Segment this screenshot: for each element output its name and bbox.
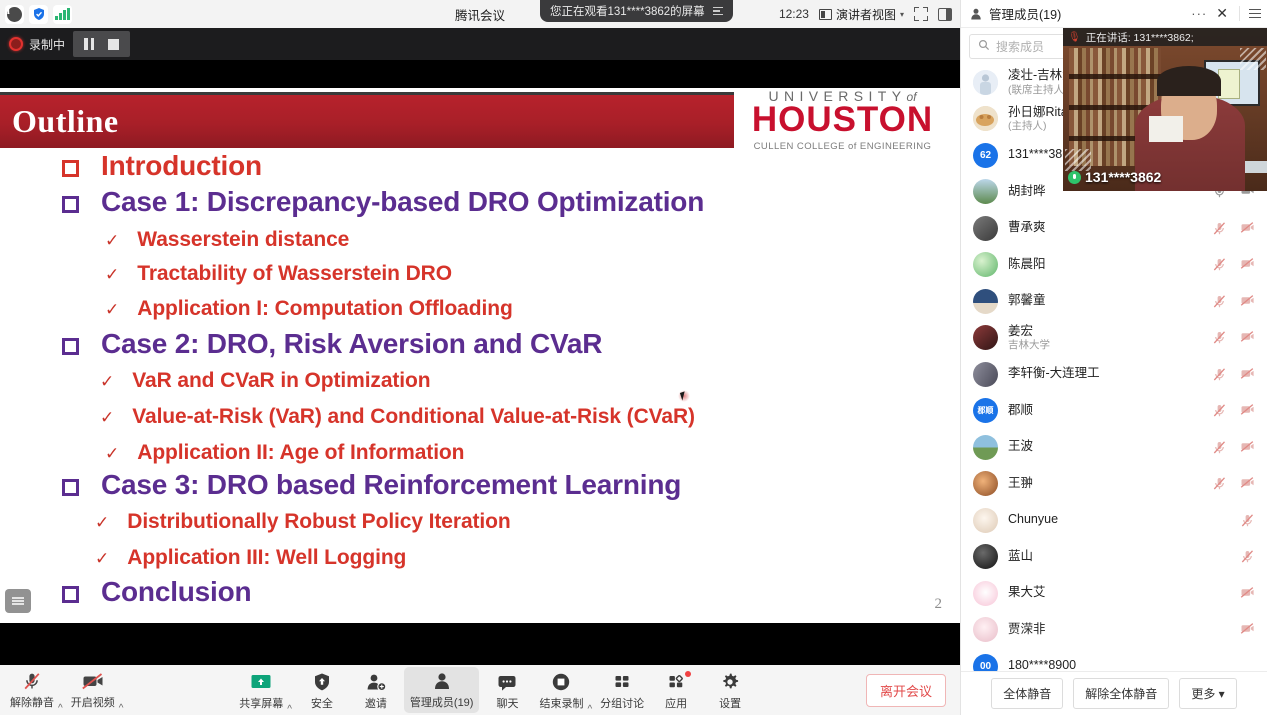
apps-grid-icon — [665, 671, 687, 693]
mic-options-chevron-icon[interactable]: ^ — [58, 703, 63, 714]
start-video-label: 开启视频 — [71, 694, 115, 710]
participant-status-icons — [1240, 622, 1255, 637]
mic-muted-icon[interactable] — [1240, 549, 1255, 564]
list-item[interactable]: 王波 — [961, 429, 1267, 466]
outline-item-l2: ✓ Application II: Age of Information — [0, 441, 960, 465]
more-label: 更多 — [1191, 687, 1215, 701]
mute-all-button[interactable]: 全体静音 — [991, 678, 1063, 709]
record-dot-icon — [9, 37, 23, 51]
members-icon — [969, 7, 983, 21]
outline-item-text: Application III: Well Logging — [127, 546, 406, 570]
speaking-banner-label: 正在讲话: 131****3862; — [1086, 30, 1194, 45]
breakout-rooms-label: 分组讨论 — [600, 695, 644, 711]
square-bullet-icon — [62, 160, 79, 177]
camera-off-icon — [81, 670, 105, 692]
participants-panel-footer: 全体静音 解除全体静音 更多 ▾ — [961, 671, 1267, 715]
participant-affiliation: 吉林大学 — [1008, 339, 1050, 352]
outline-item-text: Distributionally Robust Policy Iteration — [127, 510, 510, 534]
chat-button[interactable]: 聊天 — [481, 669, 533, 713]
participant-name: 郭馨童 — [1008, 293, 1046, 309]
camera-off-icon[interactable] — [1240, 403, 1255, 418]
speaking-mic-icon: 🎙 — [1068, 32, 1081, 43]
check-bullet-icon: ✓ — [105, 444, 119, 464]
share-screen-button[interactable]: 共享屏幕 — [235, 669, 287, 713]
speaker-video-frame — [1063, 28, 1267, 191]
square-bullet-icon — [62, 586, 79, 603]
list-item[interactable]: 王翀 — [961, 466, 1267, 503]
square-bullet-icon — [62, 479, 79, 496]
logo-houston-word: HOUSTON — [735, 102, 950, 138]
camera-off-icon[interactable] — [1240, 622, 1255, 637]
settings-label: 设置 — [719, 695, 741, 711]
outline-item-l1: Introduction — [0, 150, 960, 182]
breakout-rooms-button[interactable]: 分组讨论 — [596, 669, 648, 713]
check-bullet-icon: ✓ — [95, 513, 109, 533]
square-bullet-icon — [62, 338, 79, 355]
search-icon — [978, 39, 990, 54]
avatar — [973, 508, 998, 533]
participant-status-icons — [1240, 513, 1255, 528]
avatar — [973, 252, 998, 277]
mic-muted-icon — [22, 670, 42, 692]
fullscreen-icon[interactable] — [914, 7, 928, 21]
clock: 12:23 — [779, 7, 809, 21]
participant-name: 陈晨阳 — [1008, 257, 1046, 273]
chat-label: 聊天 — [496, 695, 518, 711]
university-logo: UNIVERSITYof HOUSTON CULLEN COLLEGE of E… — [735, 88, 950, 152]
settings-button[interactable]: 设置 — [704, 669, 756, 713]
start-video-button[interactable]: 开启视频 — [67, 668, 119, 712]
pause-recording-icon[interactable] — [84, 38, 94, 50]
camera-off-icon[interactable] — [1240, 257, 1255, 272]
slide-navigation-icon[interactable] — [5, 589, 31, 613]
participant-name: 蓝山 — [1008, 549, 1033, 565]
slide-outline-list: Introduction Case 1: Discrepancy-based D… — [0, 150, 960, 608]
mic-muted-icon[interactable] — [1212, 440, 1227, 455]
outline-item-l2: ✓ Application III: Well Logging — [0, 546, 960, 570]
outline-item-text: Case 3: DRO based Reinforcement Learning — [101, 469, 681, 501]
outline-item-l2: ✓ Tractability of Wasserstein DRO — [0, 262, 960, 286]
chevron-down-icon: ▾ — [900, 10, 904, 19]
participants-panel-header: 管理成员(19) ··· ✕ — [961, 0, 1267, 28]
presentation-slide: Outline UNIVERSITYof HOUSTON CULLEN COLL… — [0, 88, 960, 623]
search-placeholder: 搜索成员 — [996, 38, 1044, 55]
avatar — [973, 216, 998, 241]
recording-controls — [73, 31, 130, 57]
slide-title-banner: Outline — [0, 92, 734, 148]
participant-name: 孙日娜Rita — [1008, 105, 1068, 121]
toggle-side-panel-icon[interactable] — [938, 8, 952, 21]
participant-role: (主持人) — [1008, 120, 1068, 133]
active-speaker-thumbnail[interactable]: 🎙 正在讲话: 131****3862; 131****3862 — [1063, 28, 1267, 191]
avatar: 62 — [973, 143, 998, 168]
toolbar-center-group: 共享屏幕 ^ 安全 — [235, 667, 756, 713]
list-item[interactable]: 陈晨阳 — [961, 247, 1267, 284]
unmute-all-button[interactable]: 解除全体静音 — [1073, 678, 1169, 709]
camera-off-icon[interactable] — [1240, 367, 1255, 382]
outline-item-l1: Case 1: Discrepancy-based DRO Optimizati… — [0, 186, 960, 218]
list-item[interactable]: 蓝山 — [961, 539, 1267, 576]
outline-item-text: Application II: Age of Information — [137, 441, 464, 465]
stop-recording-icon[interactable] — [108, 39, 119, 50]
avatar — [973, 435, 998, 460]
close-icon[interactable]: ✕ — [1216, 5, 1228, 22]
avatar — [973, 581, 998, 606]
top-bar: i 腾讯会议 12:23 演讲者视图 ▾ — [0, 0, 960, 28]
mic-muted-icon[interactable] — [1212, 294, 1227, 309]
list-item[interactable]: 郡顺 郡顺 — [961, 393, 1267, 430]
participant-name: 郡顺 — [1008, 403, 1033, 419]
unmute-button[interactable]: 解除静音 — [6, 668, 58, 712]
share-options-chevron-icon[interactable]: ^ — [287, 704, 292, 715]
camera-off-icon[interactable] — [1240, 221, 1255, 236]
avatar — [973, 289, 998, 314]
square-bullet-icon — [62, 196, 79, 213]
participant-name: 果大艾 — [1008, 585, 1046, 601]
speaker-view-icon — [819, 9, 832, 20]
invite-label: 邀请 — [365, 695, 387, 711]
outline-item-text: Case 1: Discrepancy-based DRO Optimizati… — [101, 186, 704, 218]
participants-panel: 管理成员(19) ··· ✕ 搜索成员 — [960, 0, 1267, 715]
mic-muted-icon[interactable] — [1212, 403, 1227, 418]
check-bullet-icon: ✓ — [105, 300, 119, 320]
thumbnail-name-label: 131****3862 — [1085, 169, 1161, 185]
panel-menu-icon[interactable] — [1239, 6, 1261, 21]
participant-status-icons — [1212, 440, 1255, 455]
avatar-initials: 00 — [980, 661, 991, 671]
avatar — [973, 106, 998, 131]
outline-item-l1: Case 2: DRO, Risk Aversion and CVaR — [0, 328, 960, 360]
manage-members-button[interactable]: 管理成员(19) — [404, 667, 480, 713]
security-label: 安全 — [311, 695, 333, 711]
list-item[interactable]: Chunyue — [961, 502, 1267, 539]
apps-button[interactable]: 应用 — [650, 669, 702, 713]
record-options-chevron-icon[interactable]: ^ — [587, 704, 592, 715]
mic-muted-icon[interactable] — [1212, 330, 1227, 345]
meeting-toolbar: 解除静音 ^ 开启视频 ^ — [0, 665, 960, 715]
shared-screen-stage[interactable]: Outline UNIVERSITYof HOUSTON CULLEN COLL… — [0, 60, 960, 665]
participant-status-icons — [1212, 367, 1255, 382]
participant-name: 贾溁非 — [1008, 622, 1046, 638]
security-button[interactable]: 安全 — [296, 669, 348, 713]
outline-item-text: Introduction — [101, 150, 262, 182]
speaking-banner: 🎙 正在讲话: 131****3862; — [1063, 28, 1267, 46]
watching-screen-banner[interactable]: 您正在观看131****3862的屏幕 — [540, 0, 733, 22]
mic-active-icon — [1068, 171, 1081, 184]
check-bullet-icon: ✓ — [100, 372, 114, 392]
participant-status-icons — [1212, 221, 1255, 236]
outline-item-text: Application I: Computation Offloading — [137, 297, 512, 321]
participant-status-icons — [1240, 586, 1255, 601]
outline-item-l2: ✓ VaR and CVaR in Optimization — [0, 369, 960, 393]
mic-muted-icon[interactable] — [1212, 476, 1227, 491]
outline-item-l2: ✓ Distributionally Robust Policy Iterati… — [0, 510, 960, 534]
view-mode-selector[interactable]: 演讲者视图 ▾ — [819, 6, 904, 23]
manage-members-icon — [431, 670, 453, 692]
outline-item-l1: Conclusion — [0, 576, 960, 608]
list-item[interactable]: 贾溁非 — [961, 612, 1267, 649]
camera-off-icon[interactable] — [1240, 294, 1255, 309]
gear-icon — [720, 671, 740, 693]
thumbnail-corner-grip-bottom[interactable] — [1065, 149, 1091, 171]
camera-options-chevron-icon[interactable]: ^ — [119, 703, 124, 714]
recording-label: 录制中 — [29, 36, 65, 53]
avatar — [973, 362, 998, 387]
participant-status-icons — [1240, 549, 1255, 564]
top-bar-right-controls: 12:23 演讲者视图 ▾ — [779, 0, 960, 28]
participant-name: 姜宏 — [1008, 324, 1050, 340]
breakout-rooms-icon — [611, 671, 633, 693]
recording-status: 录制中 — [0, 36, 65, 53]
outline-item-l2: ✓ Value-at-Risk (VaR) and Conditional Va… — [0, 405, 960, 429]
participant-name: 胡封晔 — [1008, 184, 1046, 200]
toolbar-left-group: 解除静音 ^ 开启视频 ^ — [0, 668, 125, 712]
camera-off-icon[interactable] — [1240, 330, 1255, 345]
slide-title: Outline — [0, 95, 734, 148]
share-screen-label: 共享屏幕 — [239, 695, 283, 711]
avatar-initials: 郡顺 — [978, 405, 994, 416]
avatar — [973, 179, 998, 204]
participants-panel-title: 管理成员(19) — [989, 4, 1061, 23]
stop-record-icon — [551, 671, 571, 693]
participant-name: 李轩衡-大连理工 — [1008, 366, 1100, 382]
avatar — [973, 471, 998, 496]
avatar — [973, 544, 998, 569]
check-bullet-icon: ✓ — [105, 265, 119, 285]
participant-status-icons — [1212, 257, 1255, 272]
avatar — [973, 325, 998, 350]
list-item[interactable]: 00 180****8900 — [961, 648, 1267, 671]
participant-status-icons — [1212, 476, 1255, 491]
list-item[interactable]: 果大艾 — [961, 575, 1267, 612]
leave-meeting-button[interactable]: 离开会议 — [866, 674, 946, 707]
meeting-window: i 腾讯会议 12:23 演讲者视图 ▾ 您正在观看131****3862的屏幕 — [0, 0, 1267, 715]
apps-label: 应用 — [665, 695, 687, 711]
watching-screen-label: 您正在观看131****3862的屏幕 — [550, 3, 705, 19]
chevron-down-icon: ▾ — [1219, 687, 1225, 701]
apps-badge-dot — [685, 671, 691, 677]
list-item[interactable]: 郭馨童 — [961, 283, 1267, 320]
mic-muted-icon[interactable] — [1212, 367, 1227, 382]
outline-item-l1: Case 3: DRO based Reinforcement Learning — [0, 469, 960, 501]
participant-name: 180****8900 — [1008, 658, 1076, 671]
outline-item-text: Wasserstein distance — [137, 228, 349, 252]
list-item[interactable]: 李轩衡-大连理工 — [961, 356, 1267, 393]
banner-menu-icon[interactable] — [713, 7, 723, 16]
recording-bar: 录制中 — [0, 28, 960, 60]
manage-members-label: 管理成员(19) — [410, 694, 474, 710]
chat-bubble-icon — [496, 671, 518, 693]
mic-muted-icon[interactable] — [1212, 221, 1227, 236]
thumbnail-name-overlay: 131****3862 — [1068, 169, 1161, 185]
mic-muted-icon[interactable] — [1240, 513, 1255, 528]
security-shield-icon — [312, 671, 332, 693]
outline-item-text: Value-at-Risk (VaR) and Conditional Valu… — [132, 405, 695, 429]
list-item[interactable]: 姜宏 吉林大学 — [961, 320, 1267, 357]
stop-recording-button[interactable]: 结束录制 — [535, 669, 587, 713]
camera-off-icon[interactable] — [1240, 440, 1255, 455]
share-screen-icon — [249, 671, 273, 693]
avatar-initials: 62 — [980, 150, 991, 161]
stop-recording-label: 结束录制 — [539, 695, 583, 711]
participant-name: 王波 — [1008, 439, 1033, 455]
view-mode-label: 演讲者视图 — [836, 6, 896, 23]
outline-item-text: Tractability of Wasserstein DRO — [137, 262, 452, 286]
outline-item-l2: ✓ Wasserstein distance — [0, 228, 960, 252]
avatar: 郡顺 — [973, 398, 998, 423]
outline-item-text: Case 2: DRO, Risk Aversion and CVaR — [101, 328, 602, 360]
participant-name: 王翀 — [1008, 476, 1033, 492]
toolbar-right-group: 离开会议 — [866, 674, 960, 707]
outline-item-text: VaR and CVaR in Optimization — [132, 369, 430, 393]
paper-on-desk — [1149, 116, 1183, 142]
check-bullet-icon: ✓ — [105, 231, 119, 251]
list-item[interactable]: 曹承爽 — [961, 210, 1267, 247]
invite-person-icon — [365, 671, 387, 693]
camera-off-icon[interactable] — [1240, 586, 1255, 601]
participant-status-icons — [1212, 294, 1255, 309]
camera-off-icon[interactable] — [1240, 476, 1255, 491]
avatar — [973, 617, 998, 642]
avatar — [973, 70, 998, 95]
speaker-hair — [1157, 66, 1221, 96]
participant-name: Chunyue — [1008, 512, 1058, 528]
thumbnail-corner-grip-top[interactable] — [1240, 48, 1266, 70]
invite-button[interactable]: 邀请 — [350, 669, 402, 713]
outline-item-text: Conclusion — [101, 576, 251, 608]
check-bullet-icon: ✓ — [95, 549, 109, 569]
mic-muted-icon[interactable] — [1212, 257, 1227, 272]
outline-item-l2: ✓ Application I: Computation Offloading — [0, 297, 960, 321]
participant-status-icons — [1212, 403, 1255, 418]
slide-page-number: 2 — [935, 596, 943, 613]
check-bullet-icon: ✓ — [100, 408, 114, 428]
unmute-label: 解除静音 — [10, 694, 54, 710]
more-options-button[interactable]: 更多 ▾ — [1179, 678, 1236, 709]
panel-more-icon[interactable]: ··· — [1191, 6, 1207, 21]
participant-name: 曹承爽 — [1008, 220, 1046, 236]
participant-status-icons — [1212, 330, 1255, 345]
avatar: 00 — [973, 654, 998, 671]
